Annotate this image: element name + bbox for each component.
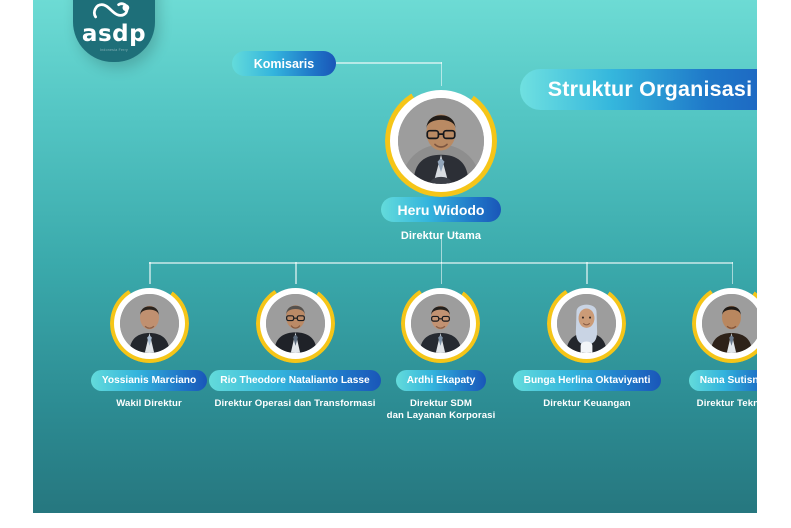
avatar-ardhi-ekapaty[interactable] [401,284,480,363]
komisaris-label: Komisaris [254,57,314,71]
person-role: Direktur Operasi dan Transformasi [214,398,375,410]
connector-root-stem [441,233,443,263]
person-name: Yossianis Marciano [102,375,196,386]
avatar-yossianis-marciano[interactable] [110,284,189,363]
asdp-logo-badge: asdp Indonesia Ferry [73,0,155,62]
avatar-photo [266,294,325,353]
komisaris-badge[interactable]: Komisaris [232,51,336,76]
asdp-swoosh-icon [91,0,137,22]
organization-chart-canvas: asdp Indonesia Ferry Struktur Organisasi… [0,0,791,528]
avatar-nana-sutisna[interactable] [692,284,757,363]
name-badge[interactable]: Ardhi Ekapaty [396,370,487,391]
node-bunga-herlina-oktaviyanti: Bunga Herlina Oktaviyanti Direktur Keuan… [507,370,667,410]
node-nana-sutisna: Nana Sutisna Direktur Teknik [652,370,757,410]
asdp-wordmark: asdp [82,23,146,46]
person-name: Ardhi Ekapaty [407,375,476,386]
page-title: Struktur Organisasi [520,69,757,110]
connector-drop-1 [149,262,151,284]
person-name: Bunga Herlina Oktaviyanti [524,375,651,386]
name-badge[interactable]: Rio Theodore Natalianto Lasse [209,370,380,391]
avatar-bunga-herlina-oktaviyanti[interactable] [547,284,626,363]
connector-drop-5 [732,262,734,284]
name-badge[interactable]: Heru Widodo [381,197,502,222]
person-role: Wakil Direktur [116,398,182,410]
avatar-photo [557,294,616,353]
chart-panel: asdp Indonesia Ferry Struktur Organisasi… [33,0,757,513]
avatar-rio-theodore-natalianto-lasse[interactable] [256,284,335,363]
page-title-text: Struktur Organisasi [548,77,753,102]
avatar-heru-widodo[interactable] [385,85,497,197]
person-role: Direktur SDM dan Layanan Korporasi [387,398,496,422]
connector-drop-3 [441,262,443,284]
asdp-tagline: Indonesia Ferry [100,48,128,52]
connector-komisaris-horizontal [336,62,442,64]
avatar-photo [398,98,484,184]
connector-drop-2 [295,262,297,284]
name-badge[interactable]: Nana Sutisna [689,370,757,391]
person-role: Direktur Teknik [697,398,757,410]
person-role: Direktur Keuangan [543,398,631,410]
person-name: Rio Theodore Natalianto Lasse [220,375,369,386]
connector-komisaris-vertical [441,62,443,86]
avatar-photo [411,294,470,353]
person-name: Heru Widodo [398,202,485,218]
person-name: Nana Sutisna [700,375,757,386]
avatar-photo [702,294,757,353]
node-ardhi-ekapaty: Ardhi Ekapaty Direktur SDM dan Layanan K… [361,370,521,422]
connector-drop-4 [586,262,588,284]
name-badge[interactable]: Yossianis Marciano [91,370,207,391]
name-badge[interactable]: Bunga Herlina Oktaviyanti [513,370,662,391]
avatar-photo [120,294,179,353]
